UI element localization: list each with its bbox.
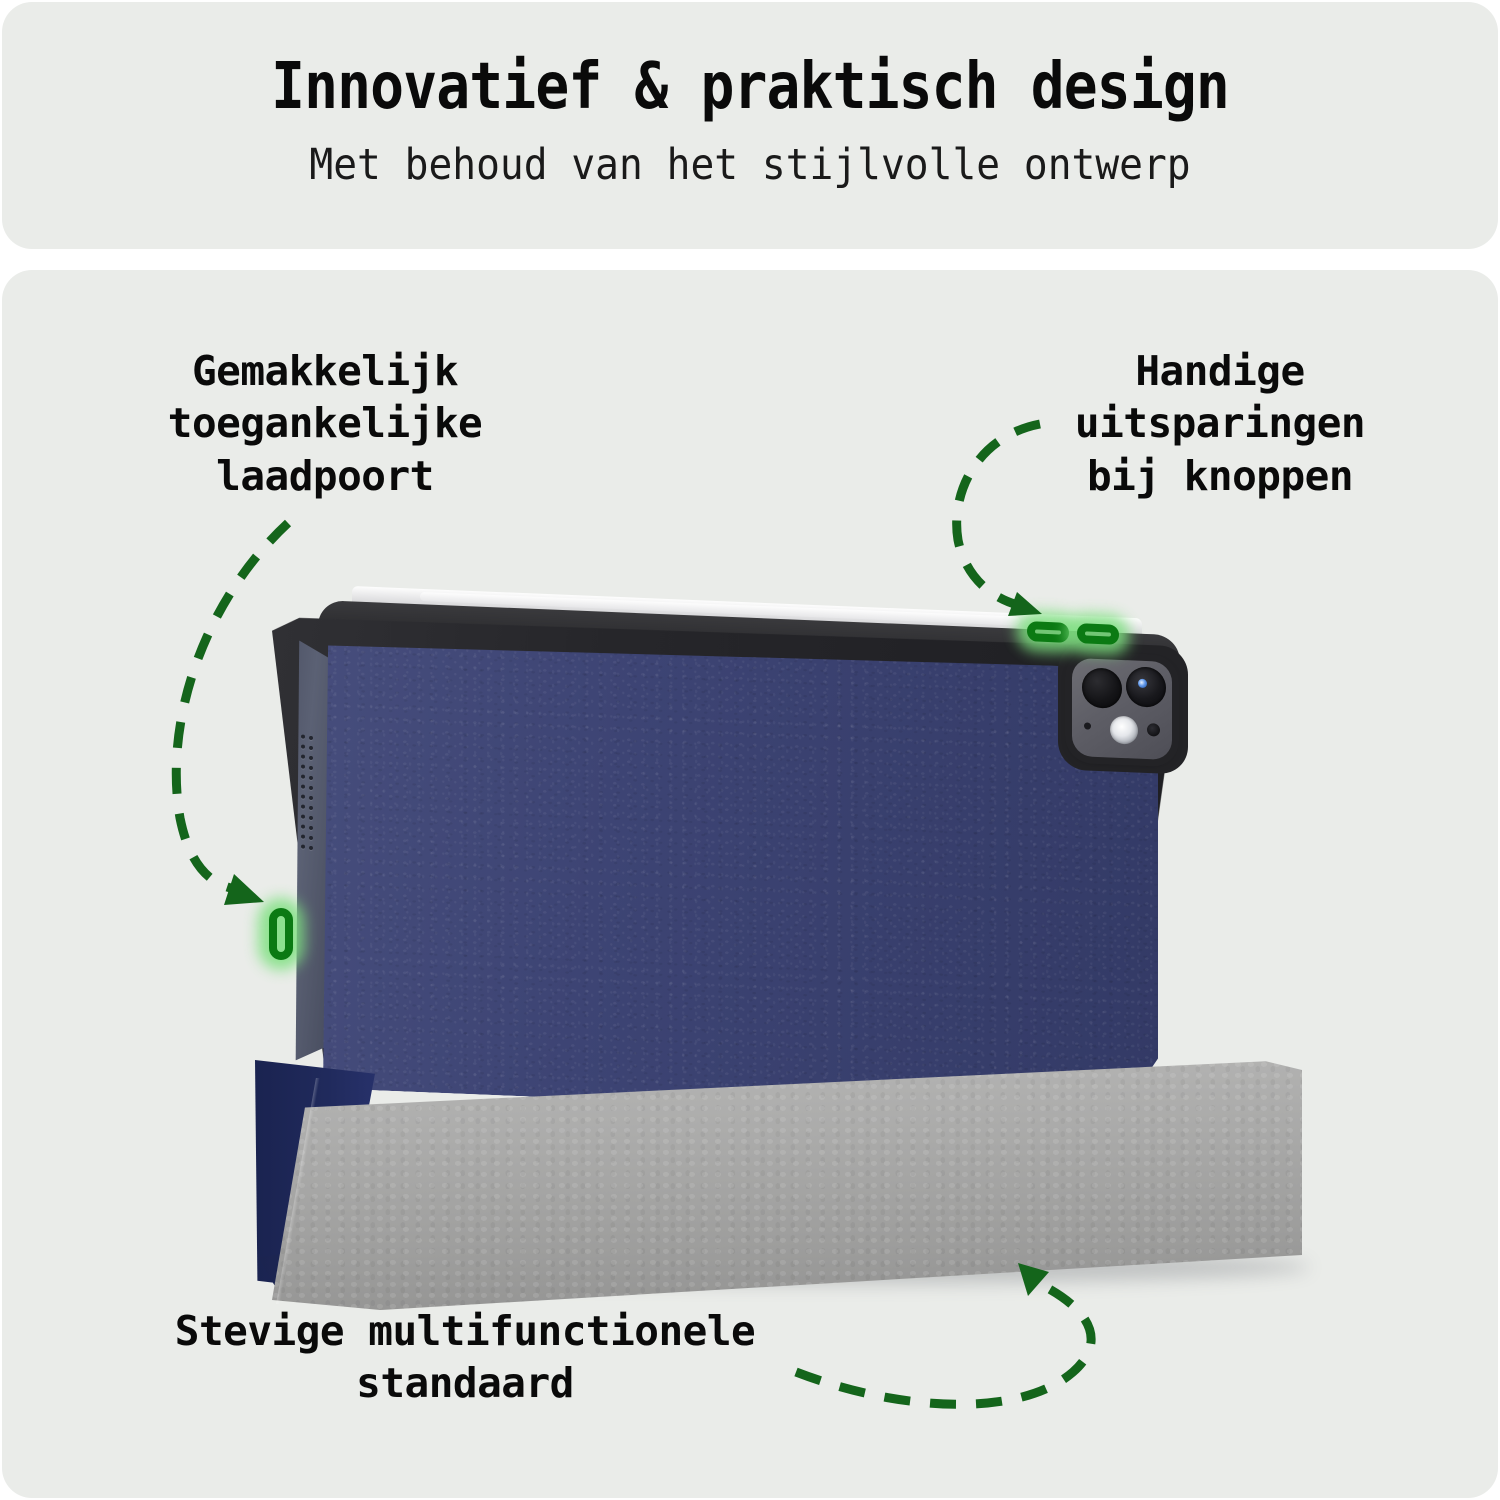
camera-lens-glint (1138, 679, 1147, 688)
navy-leather-cover (318, 636, 1158, 1122)
callout-charging-port-label: Gemakkelijk toegankelijke laadpoort (90, 345, 560, 502)
camera-sensor-icon (1147, 723, 1160, 737)
infographic-canvas: Innovatief & praktisch design Met behoud… (0, 0, 1500, 1500)
camera-lens-ultrawide (1126, 666, 1166, 708)
volume-button-cutout-1 (1027, 621, 1069, 643)
camera-module (1072, 658, 1172, 760)
camera-microphone-icon (1084, 722, 1091, 729)
callout-button-cutouts-label: Handige uitsparingen bij knoppen (1000, 345, 1440, 502)
volume-button-cutout-2 (1077, 623, 1119, 645)
speaker-grille (299, 734, 325, 875)
charging-port-cutout (269, 908, 293, 960)
camera-lens-wide (1082, 667, 1122, 709)
callout-stand-label: Stevige multifunctionele standaard (70, 1305, 860, 1410)
tablet-case-illustration (0, 0, 1500, 1500)
camera-flash-icon (1110, 715, 1138, 744)
